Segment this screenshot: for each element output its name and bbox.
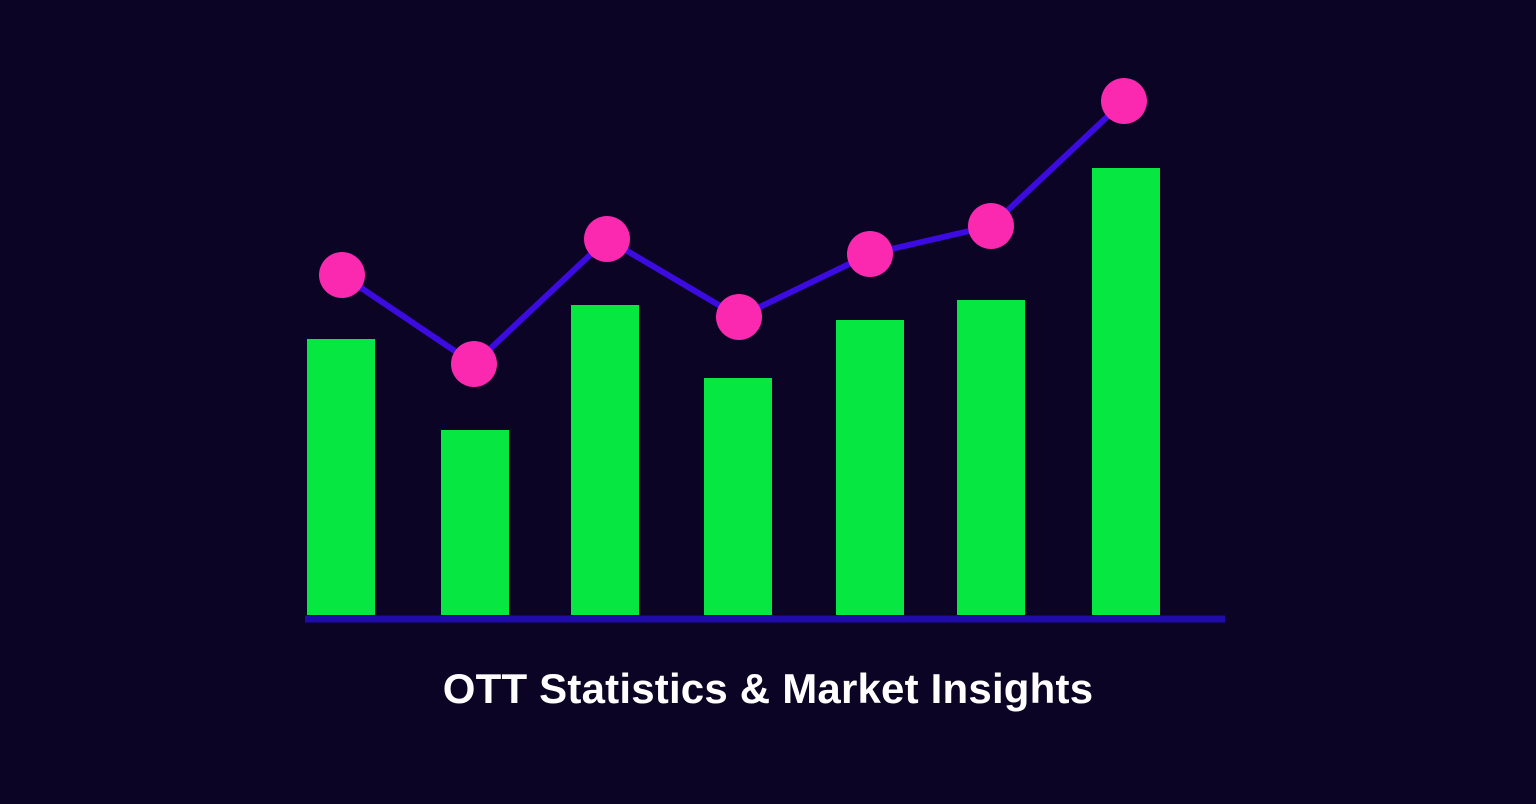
data-point-marker-2 xyxy=(451,341,497,387)
data-point-marker-3 xyxy=(584,216,630,262)
bar-7 xyxy=(1092,168,1160,615)
data-point-marker-7 xyxy=(1101,78,1147,124)
chart-canvas: OTT Statistics & Market Insights xyxy=(0,0,1536,804)
bar-4 xyxy=(704,378,772,615)
bar-6 xyxy=(957,300,1025,615)
chart-title: OTT Statistics & Market Insights xyxy=(0,662,1536,716)
bar-3 xyxy=(571,305,639,615)
data-point-marker-1 xyxy=(319,252,365,298)
bar-5 xyxy=(836,320,904,615)
data-point-marker-6 xyxy=(968,203,1014,249)
bar-2 xyxy=(441,430,509,615)
data-point-marker-4 xyxy=(716,294,762,340)
data-point-marker-5 xyxy=(847,231,893,277)
bar-1 xyxy=(307,339,375,615)
